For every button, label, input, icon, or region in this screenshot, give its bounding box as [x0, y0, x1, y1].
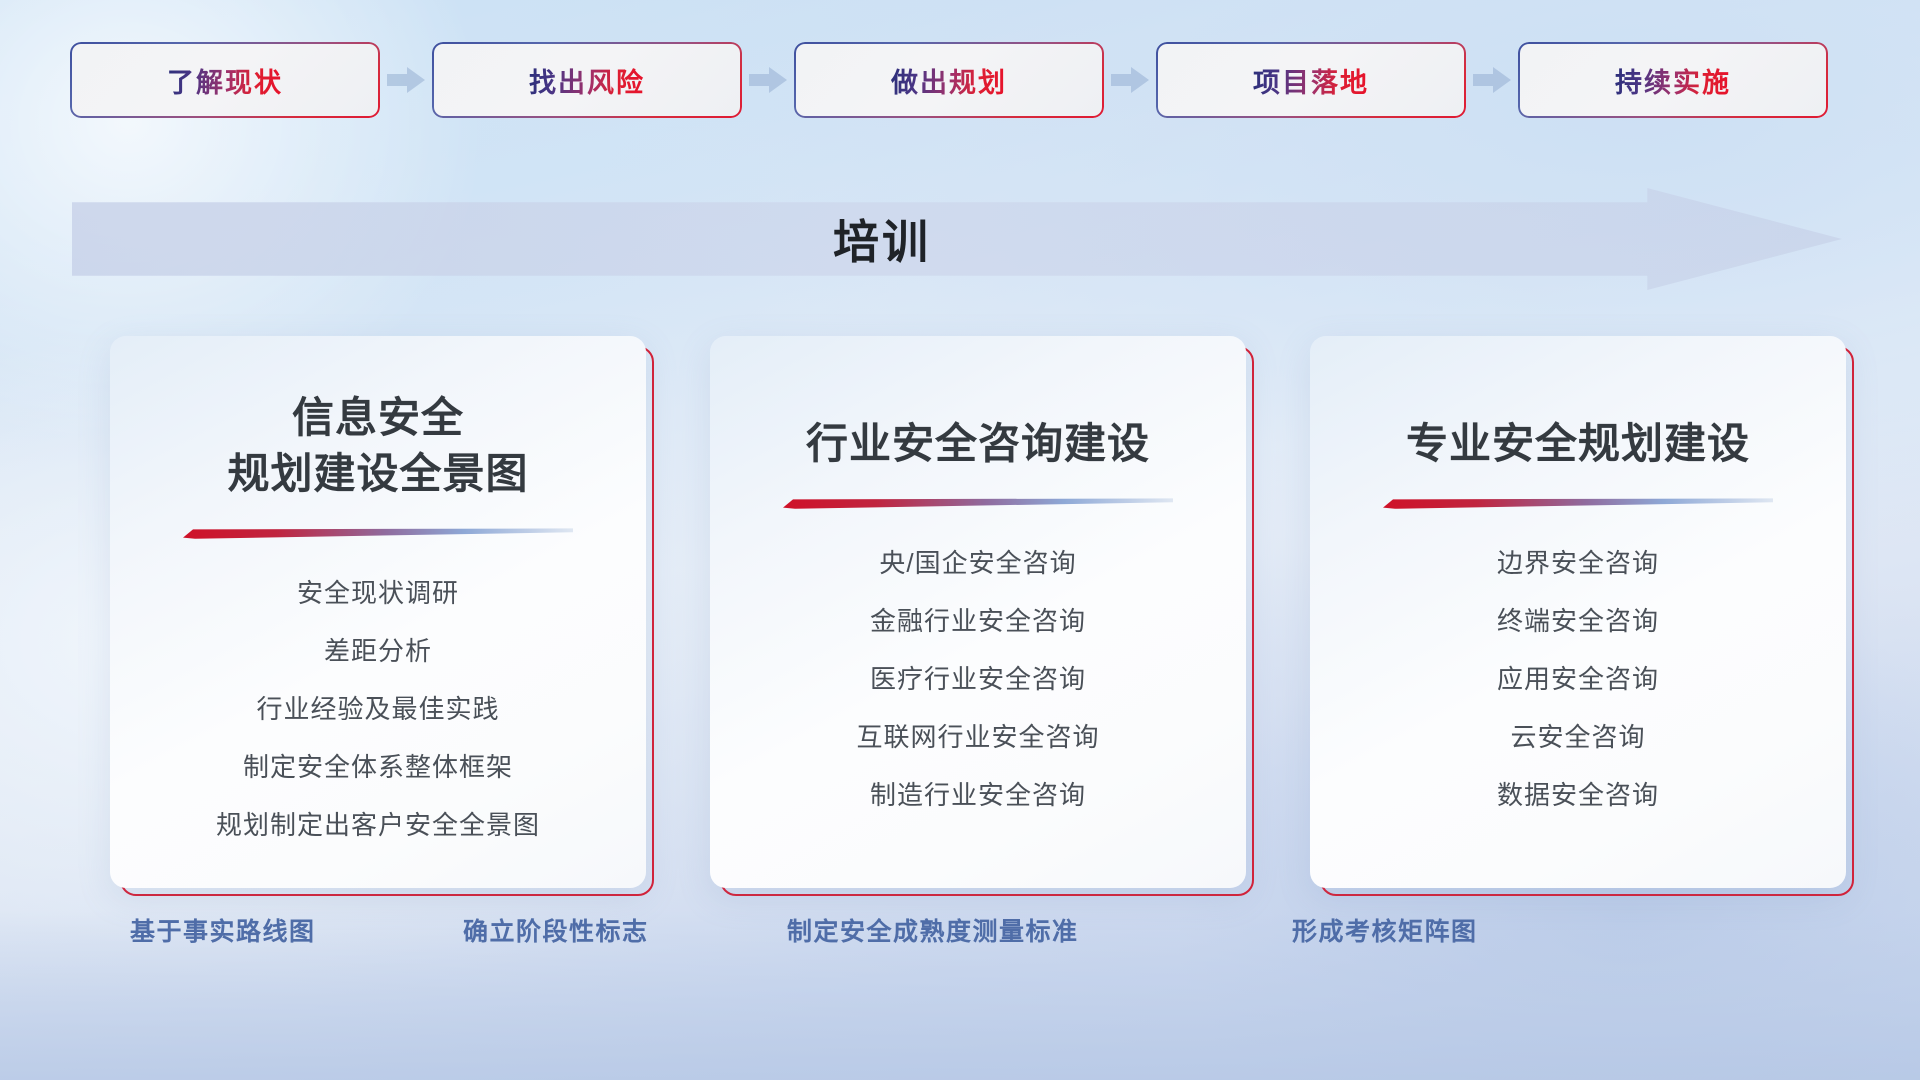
step-chip-2[interactable]: 找出风险 [434, 44, 740, 116]
card-information-security-panorama[interactable]: 信息安全 规划建设全景图 安全现状调研 [110, 336, 646, 888]
card-title: 信息安全 规划建设全景图 [227, 390, 528, 502]
footer-labels: 基于事实路线图 确立阶段性标志 制定安全成熟度测量标准 形成考核矩阵图 [0, 912, 1920, 982]
card-industry-security-consulting[interactable]: 行业安全咨询建设 央/国企安全咨询 [710, 336, 1246, 888]
card-list: 边界安全咨询 终端安全咨询 应用安全咨询 云安全咨询 数据安全咨询 [1497, 543, 1659, 812]
footer-label-3: 制定安全成熟度测量标准 [787, 912, 1079, 948]
card-divider [183, 528, 573, 539]
card-list: 安全现状调研 差距分析 行业经验及最佳实践 制定安全体系整体框架 规划制定出客户… [216, 573, 540, 842]
list-item: 边界安全咨询 [1497, 543, 1659, 580]
step-label: 持续实施 [1615, 61, 1731, 100]
step-label: 了解现状 [167, 61, 283, 100]
card-wrapper: 专业安全规划建设 边界安全咨询 [1310, 336, 1846, 888]
list-item: 云安全咨询 [1510, 717, 1645, 754]
list-item: 央/国企安全咨询 [879, 543, 1076, 580]
step-label: 项目落地 [1253, 61, 1369, 100]
footer-label-1: 基于事实路线图 [130, 912, 316, 948]
list-item: 行业经验及最佳实践 [256, 689, 499, 726]
list-item: 数据安全咨询 [1497, 775, 1659, 812]
list-item: 规划制定出客户安全全景图 [216, 805, 540, 842]
training-banner: 培训 [72, 188, 1842, 290]
list-item: 应用安全咨询 [1497, 659, 1659, 696]
footer-label-2: 确立阶段性标志 [463, 912, 649, 948]
footer-label-4: 形成考核矩阵图 [1292, 912, 1478, 948]
arrow-right-icon [740, 65, 796, 95]
list-item: 医疗行业安全咨询 [870, 659, 1086, 696]
list-item: 互联网行业安全咨询 [856, 717, 1099, 754]
step-label: 找出风险 [529, 61, 645, 100]
card-title: 专业安全规划建设 [1406, 416, 1750, 472]
card-professional-security-planning[interactable]: 专业安全规划建设 边界安全咨询 [1310, 336, 1846, 888]
banner-title: 培训 [72, 188, 1842, 290]
arrow-right-icon [378, 65, 434, 95]
arrow-right-icon [1102, 65, 1158, 95]
card-group: 信息安全 规划建设全景图 安全现状调研 [0, 336, 1920, 888]
list-item: 金融行业安全咨询 [870, 601, 1086, 638]
process-steps: 了解现状 找出风险 做出规划 项目落地 持续实施 [0, 0, 1920, 160]
card-divider [783, 498, 1173, 509]
step-chip-4[interactable]: 项目落地 [1158, 44, 1464, 116]
step-label: 做出规划 [891, 61, 1007, 100]
step-chip-5[interactable]: 持续实施 [1520, 44, 1826, 116]
card-title: 行业安全咨询建设 [806, 416, 1150, 472]
card-wrapper: 行业安全咨询建设 央/国企安全咨询 [710, 336, 1246, 888]
list-item: 制造行业安全咨询 [870, 775, 1086, 812]
step-chip-1[interactable]: 了解现状 [72, 44, 378, 116]
step-chip-3[interactable]: 做出规划 [796, 44, 1102, 116]
arrow-right-icon [1464, 65, 1520, 95]
list-item: 终端安全咨询 [1497, 601, 1659, 638]
card-wrapper: 信息安全 规划建设全景图 安全现状调研 [110, 336, 646, 888]
list-item: 差距分析 [324, 631, 432, 668]
card-divider [1383, 498, 1773, 509]
list-item: 制定安全体系整体框架 [243, 747, 513, 784]
list-item: 安全现状调研 [297, 573, 459, 610]
card-list: 央/国企安全咨询 金融行业安全咨询 医疗行业安全咨询 互联网行业安全咨询 制造行… [856, 543, 1099, 812]
